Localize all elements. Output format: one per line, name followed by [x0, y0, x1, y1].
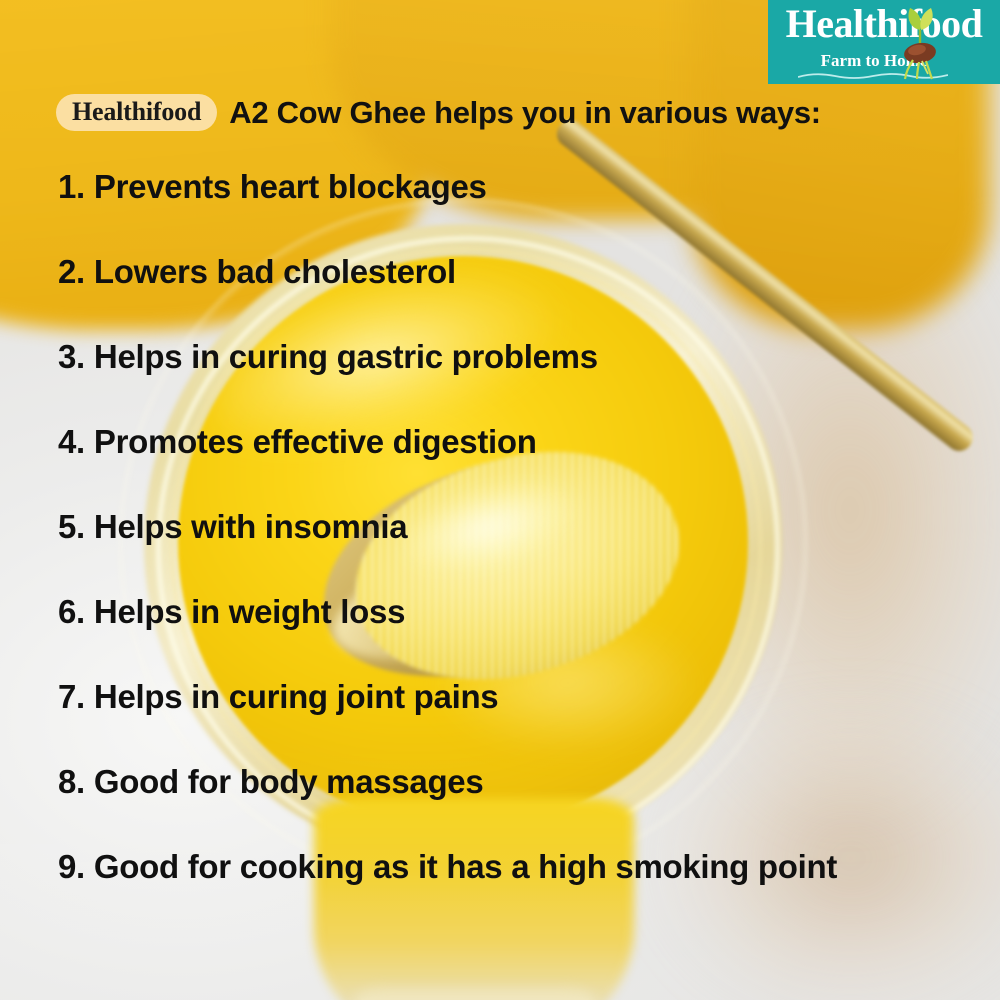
list-item: 8. Good for body massages — [58, 763, 958, 848]
headline: Healthifood A2 Cow Ghee helps you in var… — [56, 90, 821, 134]
list-item-label: Helps in curing gastric problems — [94, 338, 598, 376]
poster-canvas: Healthifood Farm to Home Healthifood A2 … — [0, 0, 1000, 1000]
benefits-list: 1. Prevents heart blockages 2. Lowers ba… — [58, 168, 958, 933]
list-item-number: 7. — [58, 678, 85, 716]
list-item-label: Good for cooking as it has a high smokin… — [94, 848, 837, 886]
logo-brand-name: Healthifood — [776, 4, 992, 44]
list-item-label: Lowers bad cholesterol — [94, 253, 456, 291]
sprout-icon — [893, 4, 947, 80]
list-item-label: Helps in weight loss — [94, 593, 405, 631]
list-item: 6. Helps in weight loss — [58, 593, 958, 678]
list-item-number: 4. — [58, 423, 85, 461]
list-item: 3. Helps in curing gastric problems — [58, 338, 958, 423]
list-item: 5. Helps with insomnia — [58, 508, 958, 593]
list-item-number: 8. — [58, 763, 85, 801]
jar-base-foot — [354, 988, 596, 1000]
list-item: 9. Good for cooking as it has a high smo… — [58, 848, 958, 933]
headline-text: A2 Cow Ghee helps you in various ways: — [229, 97, 821, 128]
list-item-number: 3. — [58, 338, 85, 376]
brand-badge: Healthifood — [56, 94, 217, 131]
list-item-number: 5. — [58, 508, 85, 546]
list-item: 4. Promotes effective digestion — [58, 423, 958, 508]
list-item-label: Good for body massages — [94, 763, 483, 801]
list-item-number: 1. — [58, 168, 85, 206]
list-item-label: Helps in curing joint pains — [94, 678, 498, 716]
list-item-number: 9. — [58, 848, 85, 886]
list-item-label: Promotes effective digestion — [94, 423, 537, 461]
list-item-label: Helps with insomnia — [94, 508, 407, 546]
brand-logo-bar[interactable]: Healthifood Farm to Home — [768, 0, 1000, 84]
list-item: 1. Prevents heart blockages — [58, 168, 958, 253]
list-item: 2. Lowers bad cholesterol — [58, 253, 958, 338]
list-item-number: 6. — [58, 593, 85, 631]
list-item-number: 2. — [58, 253, 85, 291]
list-item-label: Prevents heart blockages — [94, 168, 487, 206]
list-item: 7. Helps in curing joint pains — [58, 678, 958, 763]
